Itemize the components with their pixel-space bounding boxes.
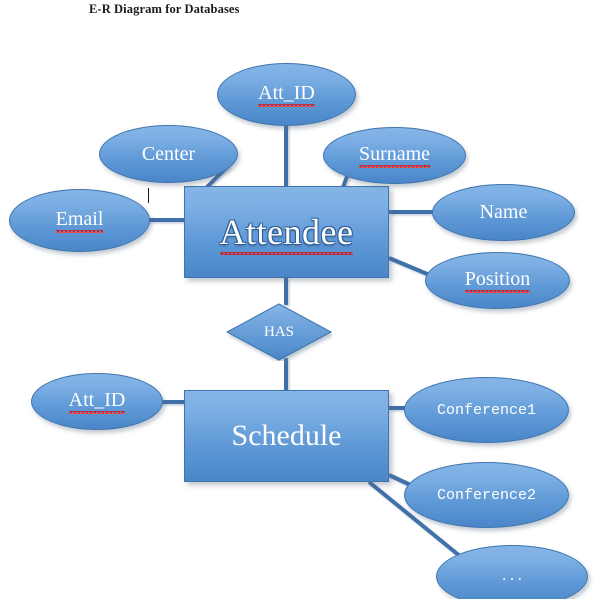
connector-attendee-position [389, 258, 432, 276]
attribute-position[interactable]: Position [425, 252, 570, 309]
shape-label: Attendee [220, 211, 354, 254]
shape-label: Att_ID [258, 82, 315, 107]
shape-label: Email [56, 208, 104, 233]
entity-schedule[interactable]: Schedule [184, 390, 389, 482]
relationship-has[interactable]: HAS [226, 303, 332, 361]
attribute-name[interactable]: Name [432, 184, 575, 241]
attribute-att-id-top[interactable]: Att_ID [217, 63, 356, 126]
shape-label: Conference2 [437, 487, 536, 504]
shape-label: Name [480, 201, 528, 224]
shape-label: Surname [359, 143, 430, 168]
er-diagram-canvas: E-R Diagram for Databases AttendeeSchedu… [0, 0, 600, 599]
shape-label: ... [500, 569, 523, 584]
attribute-email[interactable]: Email [9, 189, 150, 252]
entity-attendee[interactable]: Attendee [184, 186, 389, 278]
attribute-surname[interactable]: Surname [323, 127, 466, 184]
shape-label: HAS [264, 324, 294, 341]
shape-label: Schedule [232, 419, 342, 453]
attribute-att-id-bottom[interactable]: Att_ID [31, 373, 163, 430]
text-cursor-caret [148, 188, 149, 203]
attribute-conference2[interactable]: Conference2 [404, 462, 569, 528]
attribute-more[interactable]: ... [436, 545, 588, 599]
shape-label: Conference1 [437, 402, 536, 419]
shape-label: Position [465, 268, 531, 293]
attribute-center[interactable]: Center [99, 125, 238, 183]
shape-label: Center [142, 143, 195, 166]
attribute-conference1[interactable]: Conference1 [404, 377, 569, 443]
shape-label: Att_ID [69, 389, 126, 414]
